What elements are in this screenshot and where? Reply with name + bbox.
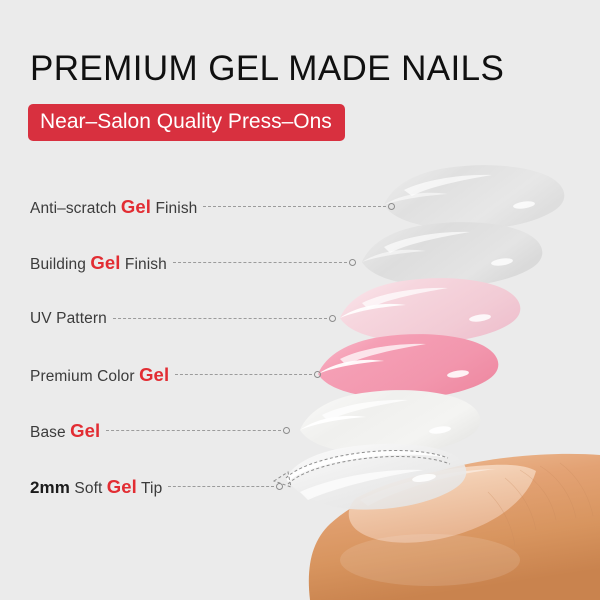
subtitle-badge: Near–Salon Quality Press–Ons xyxy=(28,104,345,141)
callout-base-gel[interactable]: Base Gel xyxy=(30,420,281,442)
leader-endpoint-dot xyxy=(388,203,395,210)
callout-label: Base Gel xyxy=(30,420,100,442)
leader-line xyxy=(113,318,327,320)
leader-line xyxy=(106,430,281,432)
callout-building-gel-finish[interactable]: Building Gel Finish xyxy=(30,252,347,274)
callout-label: Premium Color Gel xyxy=(30,364,169,386)
leader-endpoint-dot xyxy=(276,483,283,490)
leader-line xyxy=(175,374,312,376)
leader-endpoint-dot xyxy=(349,259,356,266)
leader-endpoint-dot xyxy=(283,427,290,434)
callout-premium-color-gel[interactable]: Premium Color Gel xyxy=(30,364,312,386)
callout-anti-scratch-gel-finish[interactable]: Anti–scratch Gel Finish xyxy=(30,196,386,218)
leader-endpoint-dot xyxy=(329,315,336,322)
product-infographic: PREMIUM GEL MADE NAILS Near–Salon Qualit… xyxy=(0,0,600,600)
callout-soft-gel-tip[interactable]: 2mm Soft Gel Tip xyxy=(30,476,274,498)
callout-uv-pattern[interactable]: UV Pattern xyxy=(30,308,327,330)
callout-label: Building Gel Finish xyxy=(30,252,167,274)
layer-premium-color-gel xyxy=(318,334,498,399)
layer-building-gel-finish xyxy=(362,222,542,287)
fingertip xyxy=(309,454,600,600)
layer-soft-gel-tip xyxy=(274,444,466,510)
leader-endpoint-dot xyxy=(314,371,321,378)
leader-line xyxy=(173,262,347,264)
page-title: PREMIUM GEL MADE NAILS xyxy=(30,48,504,90)
callout-label: Anti–scratch Gel Finish xyxy=(30,196,197,218)
callout-label: 2mm Soft Gel Tip xyxy=(30,476,162,498)
layer-anti-scratch-gel-finish xyxy=(384,165,564,230)
leader-line xyxy=(168,486,274,488)
leader-line xyxy=(203,206,386,208)
layer-base-gel xyxy=(300,390,480,455)
callout-label: UV Pattern xyxy=(30,310,107,328)
nail-layer-illustration xyxy=(0,0,600,600)
layer-uv-pattern xyxy=(340,278,520,343)
